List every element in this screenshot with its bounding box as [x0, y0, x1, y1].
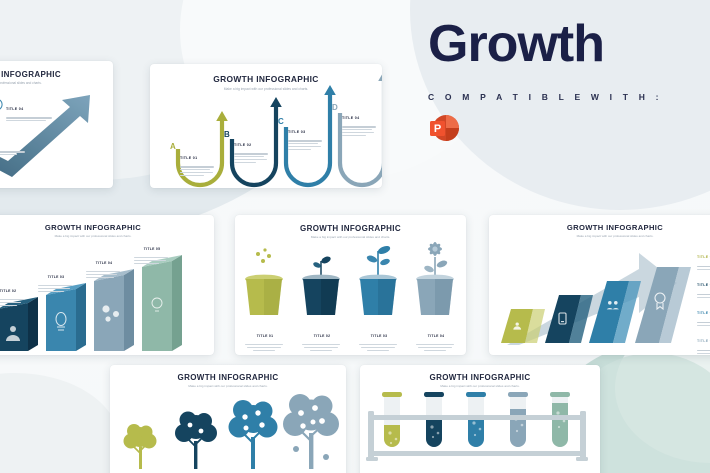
item-title: TITLE 04 — [342, 116, 359, 120]
page-title: Growth — [428, 18, 696, 70]
item-title: TITLE 02 — [314, 334, 331, 338]
background-blob-bottom-left — [0, 373, 120, 473]
slide-title: GROWTH INFOGRAPHIC — [235, 224, 466, 233]
step-text-b: TITLE 02 — [234, 133, 272, 165]
slab-01 — [501, 309, 545, 343]
test-tubes-graphic — [360, 389, 600, 473]
powerpoint-icon-letter: P — [434, 123, 441, 135]
slide-subtitle: Make a big impact with our professional … — [0, 81, 113, 85]
step-letter-c: C — [278, 117, 284, 126]
tree-03 — [229, 400, 278, 469]
trees-graphic — [110, 391, 346, 473]
item-title: TITLE 03 — [697, 311, 710, 315]
slide-subtitle: Make a big impact with our professional … — [235, 235, 466, 239]
slide-subtitle: Make a big impact with our professional … — [360, 384, 600, 388]
pot-03 — [359, 244, 397, 315]
item-title: TITLE 01 — [697, 255, 710, 259]
item-title: TITLE 02 — [697, 283, 710, 287]
item-title: TITLE 04 — [96, 261, 113, 265]
slide-subtitle: Make a big impact with our professional … — [110, 384, 346, 388]
ascending-arrow-graphic — [489, 247, 710, 347]
slide-bar-chart-3d[interactable]: GROWTH INFOGRAPHIC Make a big impact wit… — [0, 215, 214, 355]
powerpoint-icon: P — [428, 112, 460, 144]
item-title: TITLE 04 — [6, 107, 23, 111]
slide-title: GROWTH INFOGRAPHIC — [489, 223, 710, 232]
hero-block: Growth C O M P A T I B L E W I T H : P — [428, 18, 696, 144]
marker-title-04[interactable] — [0, 98, 3, 116]
step-text-a: TITLE 01 — [180, 146, 218, 178]
item-title: TITLE 03 — [288, 130, 305, 134]
item-title: TITLE 04 — [428, 334, 445, 338]
item-title: TITLE 04 — [697, 339, 710, 343]
item-title: TITLE 01 — [180, 156, 197, 160]
slide-subtitle: Make a big impact with our professional … — [0, 234, 214, 238]
item-title: TITLE 05 — [144, 247, 161, 251]
slab-02 — [545, 295, 593, 343]
tree-02 — [175, 412, 217, 470]
chart-line-icon — [0, 98, 3, 111]
step-text-c: TITLE 03 — [288, 120, 326, 152]
slide-subtitle: Make a big impact with our professional … — [150, 87, 382, 91]
tree-01 — [124, 424, 157, 469]
slide-title: GROWTH INFOGRAPHIC — [150, 74, 382, 84]
step-letter-a: A — [170, 142, 176, 151]
pot-01 — [245, 248, 283, 315]
slide-test-tubes[interactable]: GROWTH INFOGRAPHIC Make a big impact wit… — [360, 365, 600, 473]
compatible-with-label: C O M P A T I B L E W I T H : — [428, 92, 696, 102]
slide-subtitle: Make a big impact with our professional … — [489, 234, 710, 238]
item-title: TITLE 02 — [0, 289, 16, 293]
item-title: TITLE 02 — [234, 143, 251, 147]
slide-u-arrows[interactable]: GROWTH INFOGRAPHIC Make a big impact wit… — [150, 64, 382, 188]
item-title: TITLE 03 — [371, 334, 388, 338]
item-title: TITLE 03 — [48, 275, 65, 279]
tree-04 — [283, 394, 339, 469]
bar-04 — [94, 269, 134, 351]
step-text-d: TITLE 04 — [342, 106, 380, 138]
slide-trees[interactable]: GROWTH INFOGRAPHIC Make a big impact wit… — [110, 365, 346, 473]
slide-plant-pots[interactable]: GROWTH INFOGRAPHIC Make a big impact wit… — [235, 215, 466, 355]
bar-05 — [142, 255, 182, 351]
poster-canvas: Growth C O M P A T I B L E W I T H : P G… — [0, 0, 710, 473]
step-letter-d: D — [332, 103, 338, 112]
slide-title: GROWTH INFOGRAPHIC — [360, 373, 600, 382]
slide-zigzag-arrow[interactable]: GROWTH INFOGRAPHIC Make a big impact wit… — [0, 61, 113, 188]
pot-04 — [416, 242, 454, 315]
plant-pots-graphic — [235, 243, 466, 321]
step-letter-b: B — [224, 130, 230, 139]
pot-02 — [302, 255, 340, 315]
slide-ascending-arrow[interactable]: GROWTH INFOGRAPHIC Make a big impact wit… — [489, 215, 710, 355]
slide-title: GROWTH INFOGRAPHIC — [110, 373, 346, 382]
slide-title: GROWTH INFOGRAPHIC — [0, 223, 214, 232]
item-title: TITLE 01 — [257, 334, 274, 338]
slide-title: GROWTH INFOGRAPHIC — [0, 70, 113, 79]
